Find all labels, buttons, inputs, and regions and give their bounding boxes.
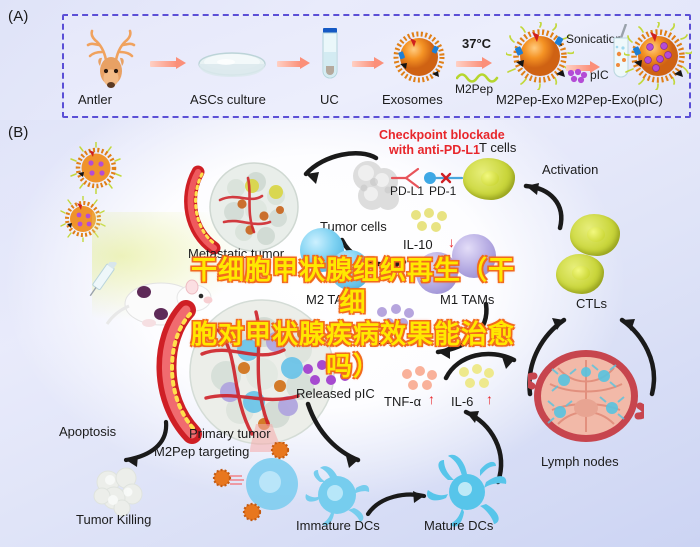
tnf-alpha-label: TNF-α [384,394,421,409]
pd-1-label: PD-1 [429,184,456,198]
arrow-il12-to-ctls [428,302,492,362]
figure-canvas: (A) Antler [0,0,700,547]
panel-a-step-label-asc-culture: ASCs culture [190,92,266,107]
metastatic-tumor-label: Metastatic tumor [188,246,284,261]
lymph-node-illustration [528,346,644,452]
exosome-particle-illustration [70,142,122,194]
arrow-culture-to-uc [277,58,310,69]
panel-a-step-label-uc: UC [320,92,339,107]
m2pep-exo-pic-illustration [624,22,692,90]
primary-tumor-label: Primary tumor [189,426,271,441]
mature-dcs-label: Mature DCs [424,518,493,533]
ctls-label: CTLs [576,296,607,311]
arrow-uc-to-exosomes [352,58,384,69]
il-10-label: IL-10 [403,237,433,252]
panel-b: Metastatic tumor Tum [0,120,700,547]
il-6-up-arrow: ↑ [486,392,493,406]
panel-a-step-label-m2pep-exo-pic: M2Pep-Exo(pIC) [566,92,663,107]
il-12-label: IL-12 [371,332,401,347]
immature-dcs-label: Immature DCs [296,518,380,533]
t-cells-label: T cells [479,140,516,155]
arrow-antler-to-culture [150,58,186,69]
activation-label: Activation [542,162,598,177]
temperature-annotation: 37°C [462,36,491,51]
il-10-cytokine-dots [408,208,452,236]
lymph-nodes-label: Lymph nodes [541,454,619,469]
m2pep-peptide-illustration [456,70,500,82]
ultracentrifuge-tube-illustration [318,26,342,86]
il-12-cytokine-dots [374,304,420,332]
checkpoint-blockade-line2: with anti-PD-L1 [389,143,480,157]
tnf-alpha-cytokine-dots [399,366,441,394]
il-12-up-arrow: ↑ [416,330,423,344]
panel-a-letter: (A) [8,8,29,25]
pic-label: pIC [590,68,609,82]
m2pep-exosome-illustration [506,22,574,90]
t-cell-illustration [463,158,515,200]
tnf-alpha-up-arrow: ↑ [428,392,435,406]
pic-cluster-illustration [566,68,588,84]
ctl-cell-illustration [556,254,604,294]
pd-l1-label: PD-L1 [390,184,424,198]
panel-a-step-label-exosomes: Exosomes [382,92,443,107]
petri-dish-illustration [196,48,268,82]
released-pic-dots [300,359,352,387]
exosome-illustration [392,30,446,84]
m2-tam-cell [330,250,370,290]
panel-a: (A) Antler [0,0,700,120]
panel-a-step-label-m2pep-exo: M2Pep-Exo [496,92,564,107]
m1-tam-cell [452,234,496,278]
il-6-cytokine-dots [456,364,498,392]
m1-tams-label: M1 TAMs [440,292,494,307]
ctl-cell-illustration [570,214,620,256]
antler-illustration [80,26,142,88]
apoptosis-label: Apoptosis [59,424,116,439]
panel-a-step-label-antler: Antler [78,92,112,107]
arrow-activation [512,174,572,234]
tumor-killing-label: Tumor Killing [76,512,151,527]
m2pep-peptide-label: M2Pep [455,82,493,96]
released-pic-label: Released pIC [296,386,375,401]
m2pep-targeting-illustration [200,442,310,522]
il-6-label: IL-6 [451,394,473,409]
panel-b-letter: (B) [8,124,29,141]
arrow-exosomes-to-m2pep-exo [456,58,492,69]
